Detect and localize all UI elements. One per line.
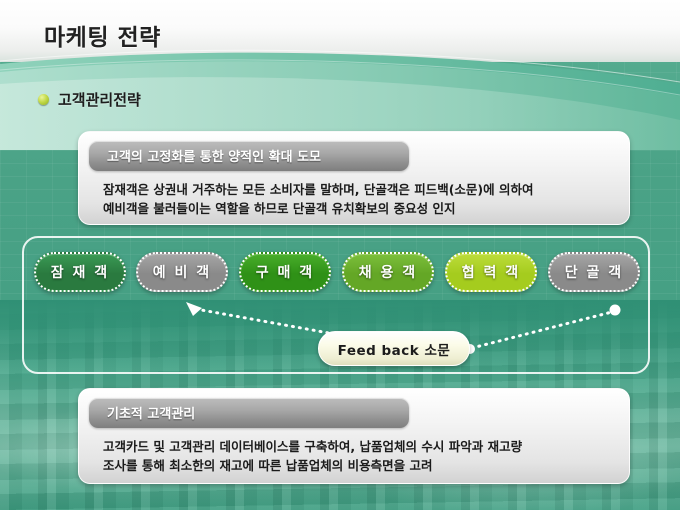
customer-pill-5: 협 력 객 <box>445 252 537 292</box>
customer-pill-label: 잠 재 객 <box>51 262 109 282</box>
section-heading: 고객관리전략 <box>38 89 141 110</box>
customer-pill-label: 구 매 객 <box>256 262 314 282</box>
customer-pill-6: 단 골 객 <box>548 252 640 292</box>
customer-pill-label: 협 력 객 <box>462 262 520 282</box>
customer-pill-1: 잠 재 객 <box>34 252 126 292</box>
feedback-callout: Feed back 소문 <box>318 331 470 366</box>
info-box-top-header: 고객의 고정화를 통한 양적인 확대 도모 <box>89 141 409 171</box>
info-box-top-body: 잠재객은 상권내 거주하는 모든 소비자를 말하며, 단골객은 피드백(소문)에… <box>89 180 619 219</box>
feedback-callout-label: Feed back 소문 <box>338 339 451 359</box>
customer-pill-label: 단 골 객 <box>565 262 623 282</box>
page-title: 마케팅 전략 <box>44 18 161 52</box>
customer-pill-4: 채 용 객 <box>342 252 434 292</box>
green-sphere-bullet-icon <box>38 94 49 105</box>
info-box-bottom-header: 기초적 고객관리 <box>89 398 409 428</box>
info-box-bottom-body: 고객카드 및 고객관리 데이터베이스를 구축하여, 납품업체의 수시 파악과 재… <box>89 437 619 476</box>
section-heading-label: 고객관리전략 <box>58 89 141 110</box>
customer-pill-label: 채 용 객 <box>359 262 417 282</box>
customer-pill-2: 예 비 객 <box>136 252 228 292</box>
slide-marketing-strategy: 마케팅 전략 고객관리전략 고객의 고정화를 통한 양적인 확대 도모 잠재객은… <box>0 0 680 510</box>
customer-pill-label: 예 비 객 <box>153 262 211 282</box>
customer-pill-3: 구 매 객 <box>239 252 331 292</box>
info-box-top: 고객의 고정화를 통한 양적인 확대 도모 잠재객은 상권내 거주하는 모든 소… <box>78 131 630 225</box>
info-box-bottom: 기초적 고객관리 고객카드 및 고객관리 데이터베이스를 구축하여, 납품업체의… <box>78 388 630 484</box>
